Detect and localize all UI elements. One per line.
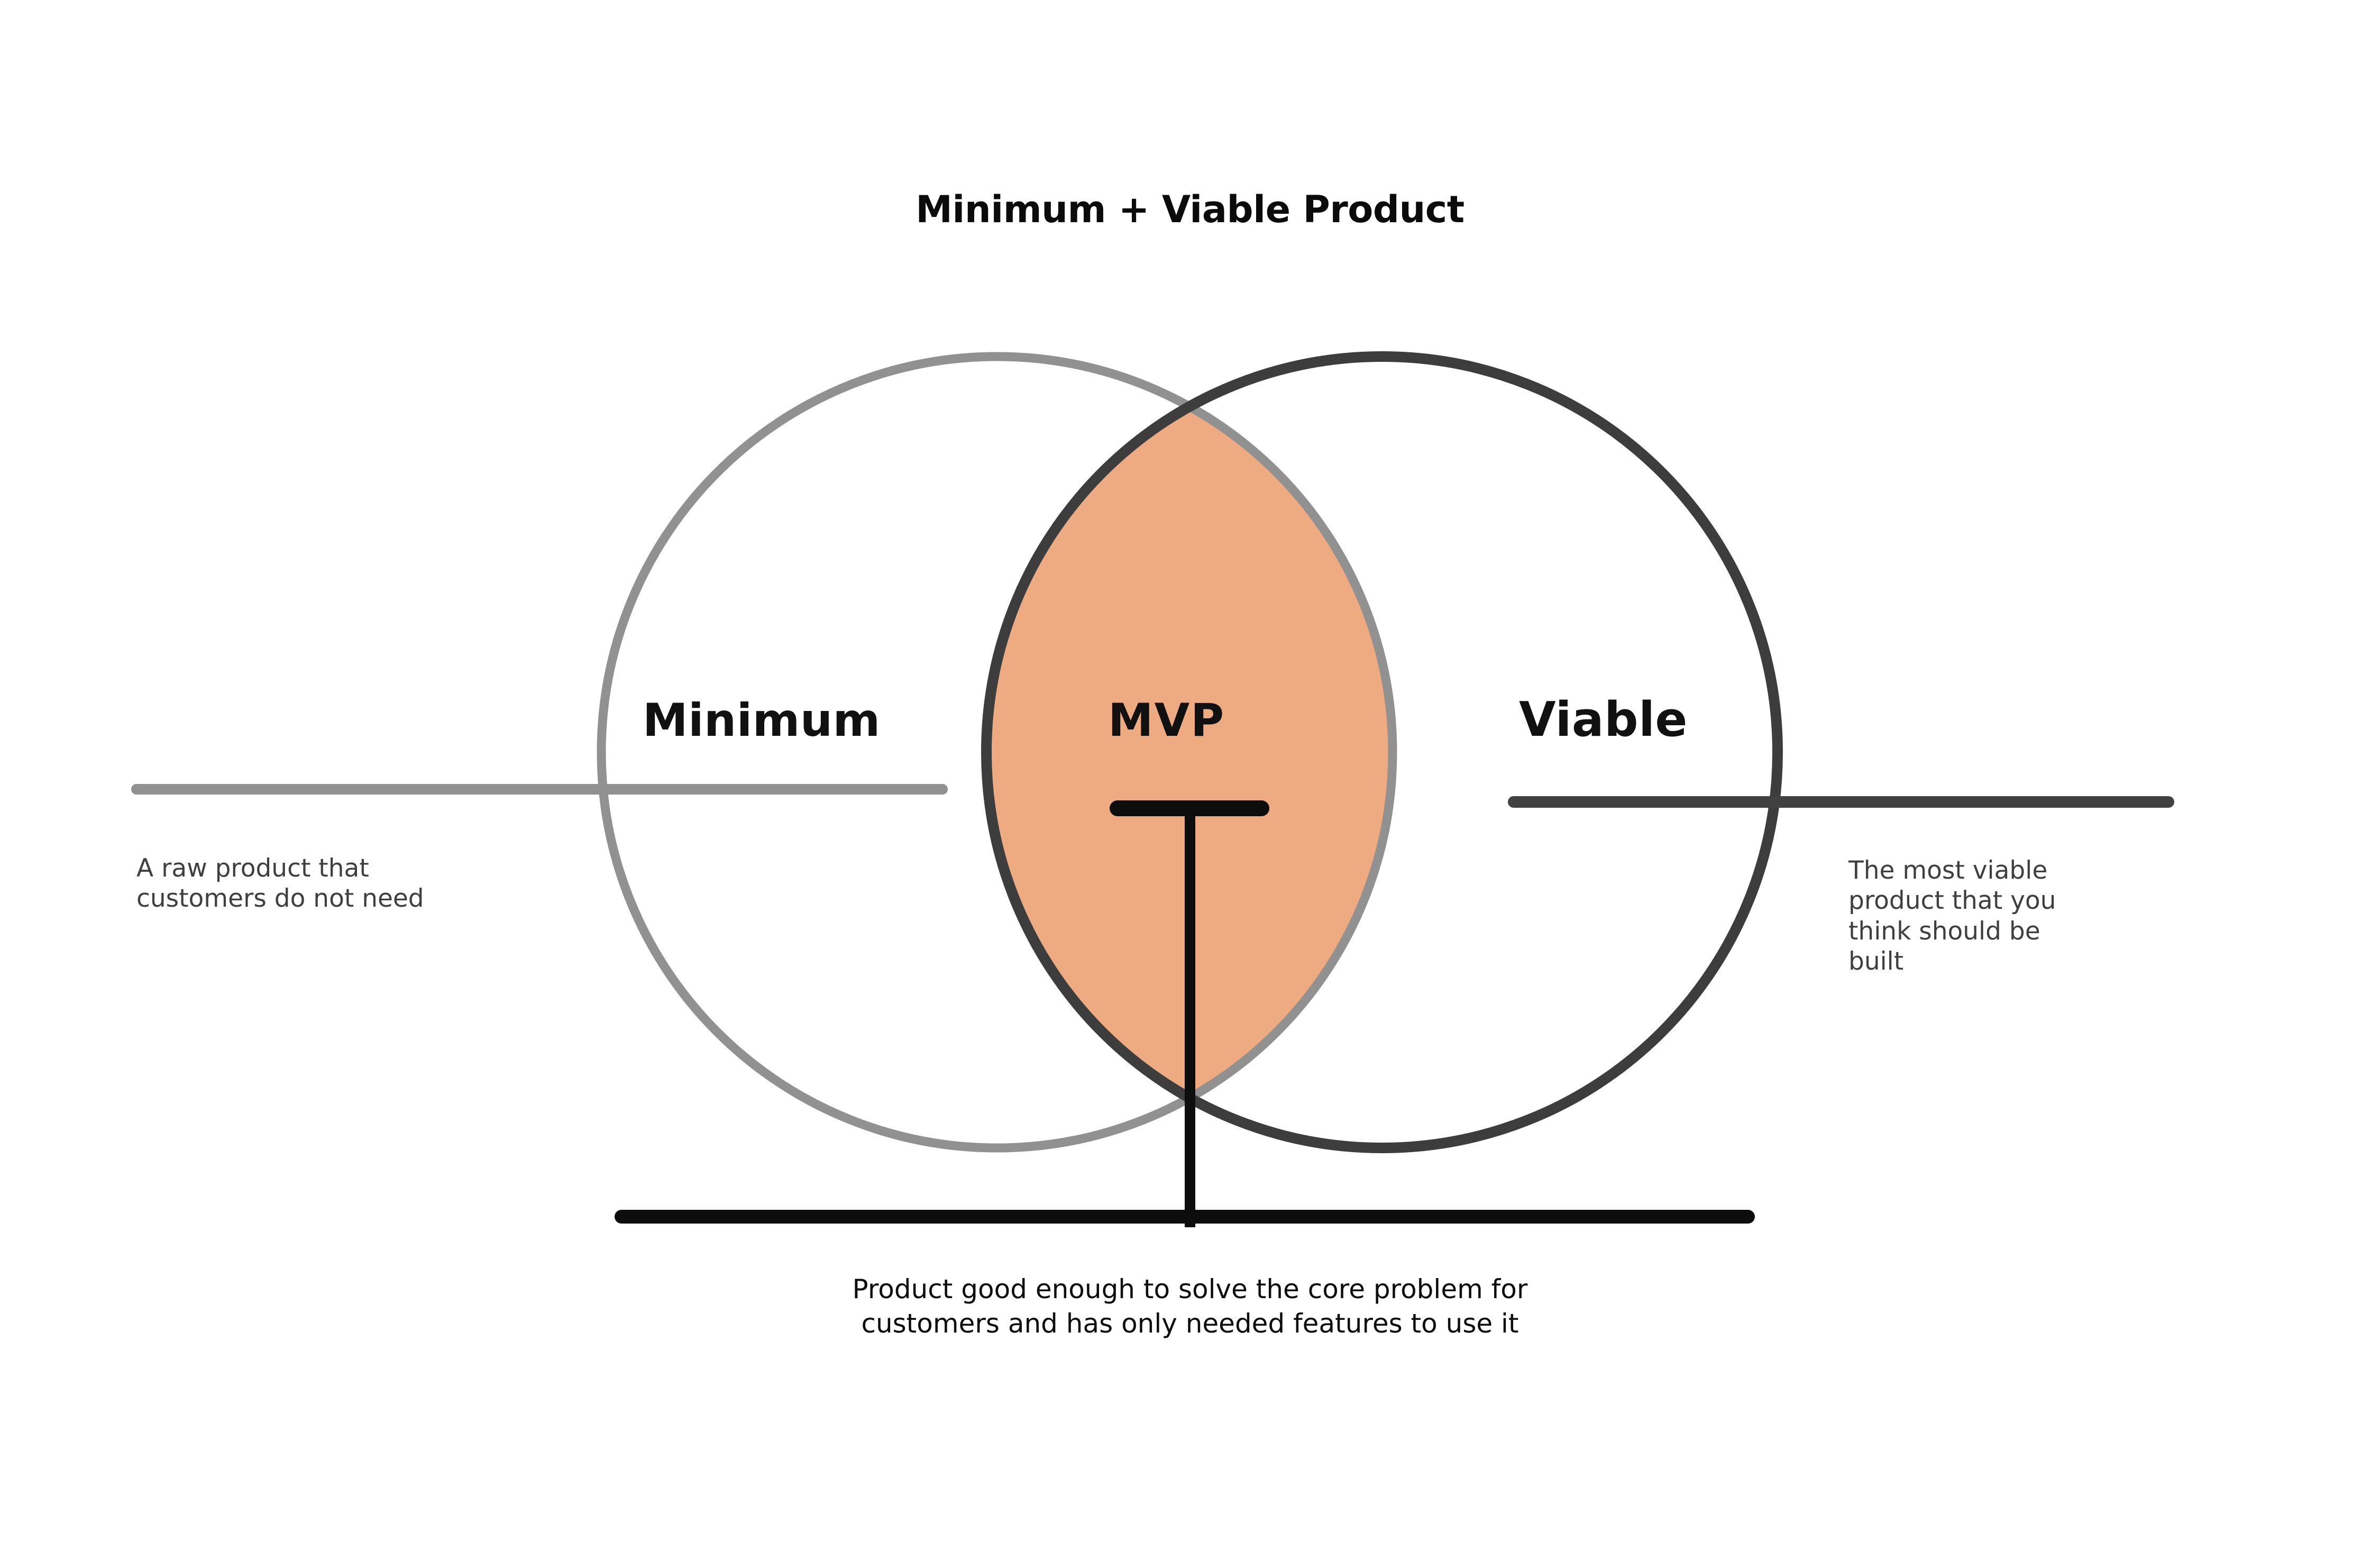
minimum-description: A raw product that customers do not need bbox=[136, 853, 612, 914]
diagram-canvas: Minimum + Viable Product Minimum MVP Via… bbox=[0, 0, 2380, 1560]
viable-label: Viable bbox=[1519, 692, 1688, 747]
mvp-description-line-1: Product good enough to solve the core pr… bbox=[0, 1272, 2380, 1307]
mvp-description: Product good enough to solve the core pr… bbox=[0, 1272, 2380, 1341]
viable-description: The most viable product that you think s… bbox=[1848, 855, 2176, 977]
minimum-description-line-2: customers do not need bbox=[136, 883, 612, 914]
minimum-label: Minimum bbox=[643, 694, 881, 747]
viable-description-line-4: built bbox=[1848, 946, 2176, 977]
viable-description-line-1: The most viable bbox=[1848, 855, 2176, 886]
mvp-description-line-2: customers and has only needed features t… bbox=[0, 1307, 2380, 1341]
minimum-description-line-1: A raw product that bbox=[136, 853, 612, 883]
viable-description-line-3: think should be bbox=[1848, 916, 2176, 946]
viable-description-line-2: product that you bbox=[1848, 886, 2176, 916]
mvp-label: MVP bbox=[1108, 694, 1225, 747]
